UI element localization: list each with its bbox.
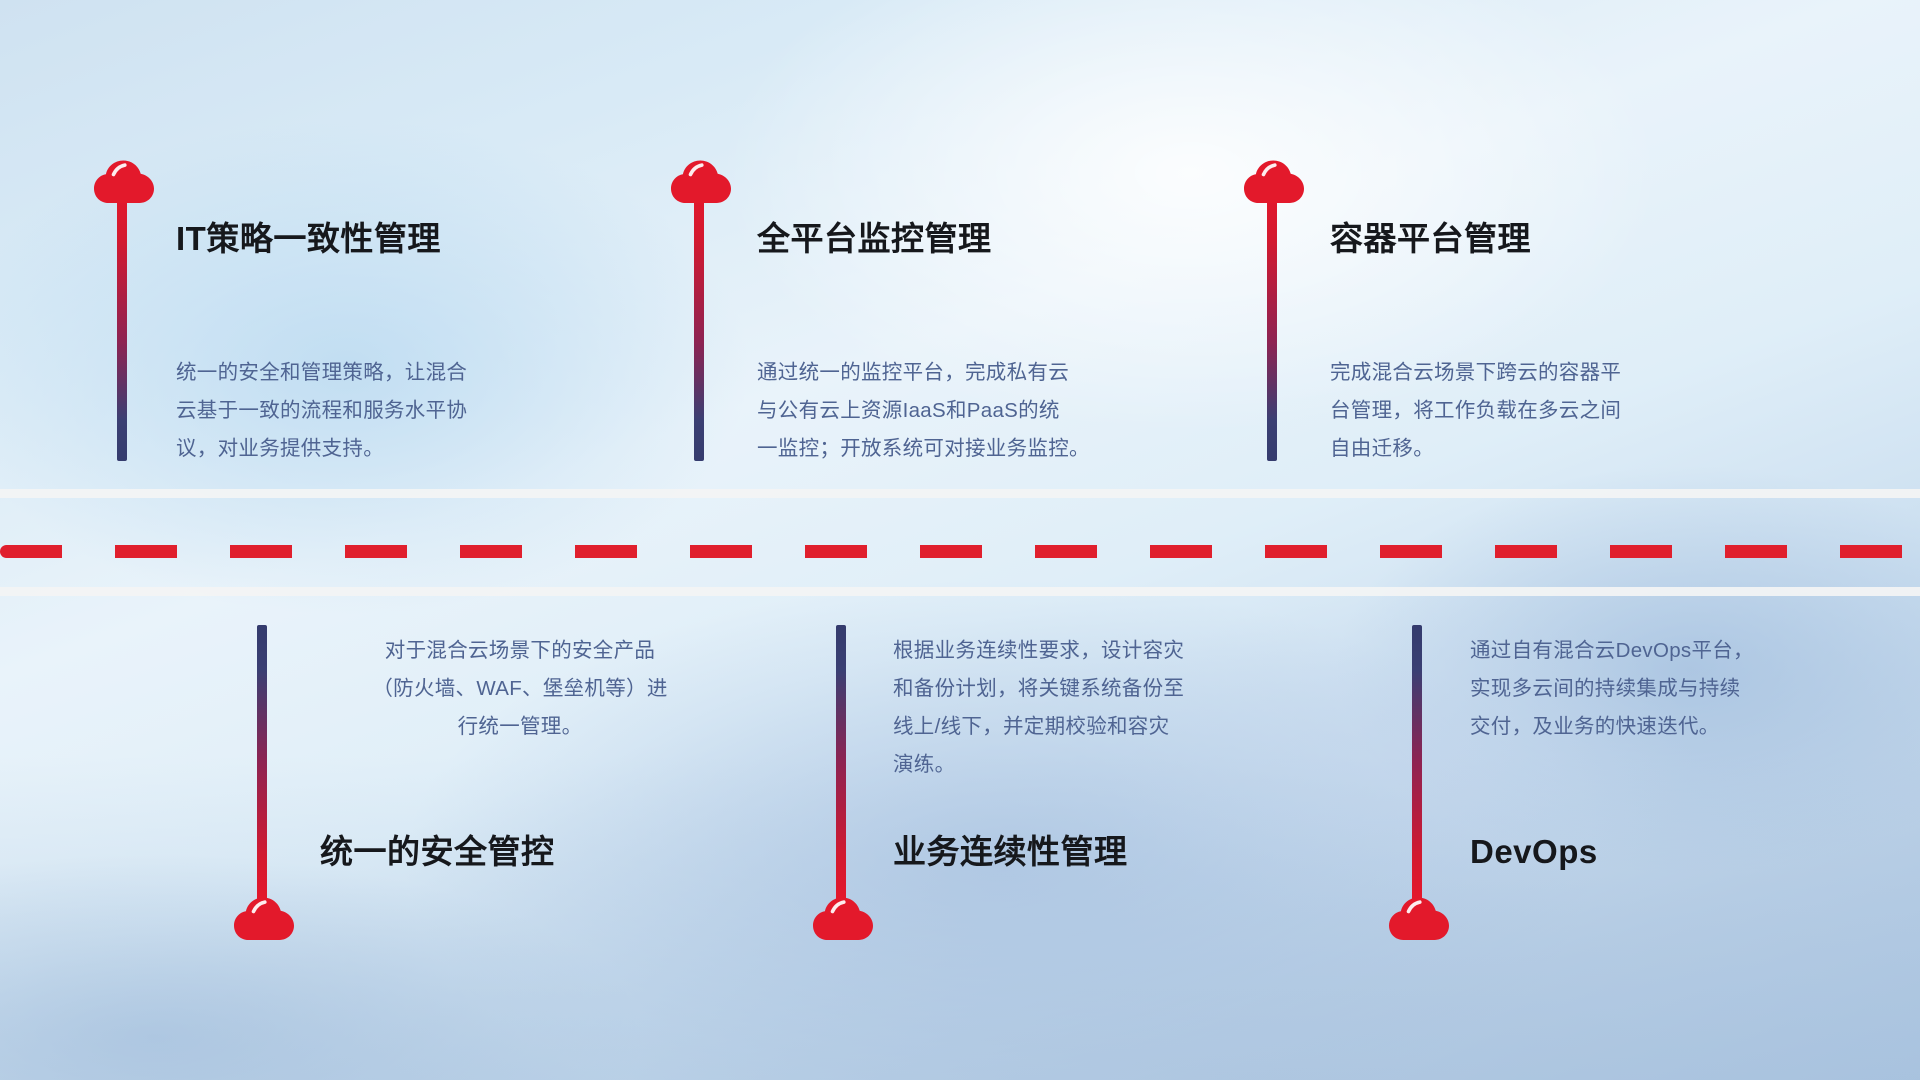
marker-title: 容器平台管理 (1330, 222, 1531, 255)
cloud-icon (93, 160, 155, 206)
marker-stem (836, 625, 846, 910)
marker-description: 通过统一的监控平台，完成私有云 与公有云上资源IaaS和PaaS的统 一监控；开… (757, 354, 1207, 468)
marker-stem (1412, 625, 1422, 910)
cloud-icon (233, 897, 295, 943)
marker-stem (257, 625, 267, 910)
road-edge-bottom (0, 587, 1920, 596)
marker-title: 业务连续性管理 (893, 835, 1128, 868)
marker-description: 对于混合云场景下的安全产品 （防火墙、WAF、堡垒机等）进 行统一管理。 (310, 632, 730, 746)
infographic-canvas: IT策略一致性管理 统一的安全和管理策略，让混合 云基于一致的流程和服务水平协 … (0, 0, 1920, 1080)
marker-title: 全平台监控管理 (757, 222, 992, 255)
marker-stem (694, 176, 704, 461)
cloud-icon (670, 160, 732, 206)
cloud-icon (1243, 160, 1305, 206)
cloud-icon (1388, 897, 1450, 943)
marker-title: IT策略一致性管理 (176, 222, 441, 255)
road-edge-top (0, 489, 1920, 498)
marker-description: 通过自有混合云DevOps平台， 实现多云间的持续集成与持续 交付，及业务的快速… (1470, 632, 1890, 746)
road-center-dashed-line (0, 545, 1920, 558)
marker-stem (1267, 176, 1277, 461)
cloud-icon (812, 897, 874, 943)
marker-description: 完成混合云场景下跨云的容器平 台管理，将工作负载在多云之间 自由迁移。 (1330, 354, 1760, 468)
marker-title: DevOps (1470, 835, 1598, 868)
marker-title: 统一的安全管控 (320, 835, 555, 868)
marker-description: 统一的安全和管理策略，让混合 云基于一致的流程和服务水平协 议，对业务提供支持。 (176, 354, 606, 468)
marker-description: 根据业务连续性要求，设计容灾 和备份计划，将关键系统备份至 线上/线下，并定期校… (893, 632, 1323, 784)
marker-stem (117, 176, 127, 461)
